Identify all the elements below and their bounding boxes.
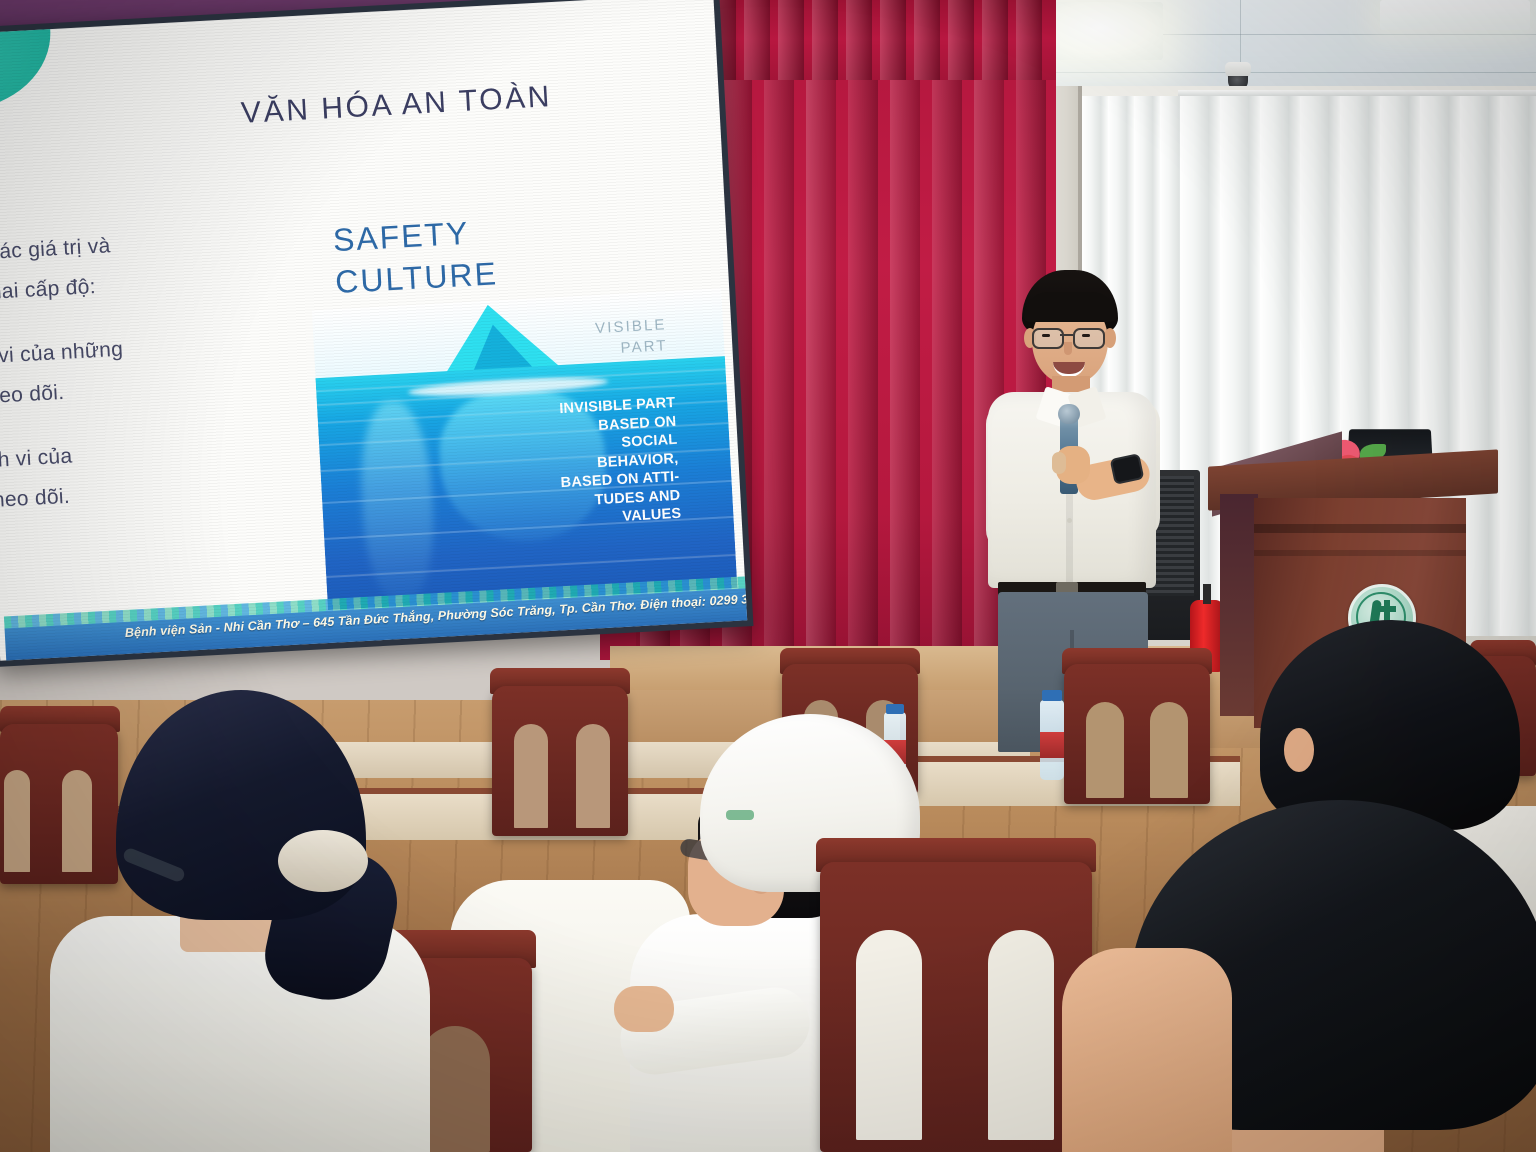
chair-back-slot: [856, 930, 922, 1140]
audience-ear: [1284, 728, 1314, 772]
eyeglass-bridge: [1060, 334, 1073, 336]
bottle-cap: [1042, 690, 1062, 701]
chair-back-slot: [1086, 702, 1124, 798]
eyeglass-lens-right: [1073, 328, 1105, 349]
presenter-nose: [1064, 342, 1072, 355]
podium-groove: [1254, 524, 1466, 533]
slide-bullet: ặt – hành vi của ông bị theo dõi.: [0, 426, 262, 524]
chair-back-slot: [1150, 702, 1188, 798]
audience-hand: [614, 986, 674, 1032]
hair-scrunchie: [278, 830, 368, 892]
projection-screen: VĂN HÓA AN TOÀN tập hợp các giá trị và ồ…: [0, 0, 753, 667]
slide-title: VĂN HÓA AN TOÀN: [240, 74, 671, 131]
presenter-eye-right: [1082, 334, 1090, 337]
hospital-logo-cross-horizontal: [1378, 606, 1396, 612]
audience-member-ponytail: [60, 690, 480, 1152]
audience-hair: [1260, 620, 1520, 830]
slide-bullet: tập hợp các giá trị và ồn tại ở hai cấp …: [0, 219, 251, 317]
slide-bullet: t – hành vi của những ang bị theo dõi.: [0, 323, 257, 421]
eyeglass-lens-left: [1032, 328, 1064, 349]
raised-hand: [1062, 948, 1232, 1152]
microphone-head: [1058, 404, 1080, 424]
presenter-thumb: [1052, 452, 1066, 474]
chair-back-slot: [988, 930, 1054, 1140]
ceiling-light-strip: [1380, 0, 1530, 30]
safety-culture-heading: SAFETY CULTURE: [332, 210, 499, 303]
slide-bullet-list: tập hợp các giá trị và ồn tại ở hai cấp …: [0, 219, 264, 549]
visible-part-label: VISIBLE PART: [595, 314, 669, 360]
nursing-cap-emblem: [726, 810, 754, 820]
chair-back-slot: [576, 724, 610, 828]
chair-back-slot: [4, 770, 30, 872]
conference-hall-photo: VĂN HÓA AN TOÀN tập hợp các giá trị và ồ…: [0, 0, 1536, 1152]
chair-back-slot: [514, 724, 548, 828]
presenter-hair-front: [1024, 292, 1116, 322]
podium-side-panel: [1220, 494, 1258, 716]
podium-groove: [1254, 550, 1466, 556]
invisible-part-label: INVISIBLE PART BASED ON SOCIAL BEHAVIOR,…: [547, 394, 682, 530]
presenter-ear-right: [1104, 328, 1116, 348]
bottle-label: [1040, 732, 1064, 758]
shirt-button: [1067, 518, 1072, 523]
screen-surface: VĂN HÓA AN TOÀN tập hợp các giá trị và ồ…: [0, 0, 747, 661]
safety-culture-line2: CULTURE: [334, 252, 499, 303]
presenter-eye-left: [1042, 334, 1050, 337]
